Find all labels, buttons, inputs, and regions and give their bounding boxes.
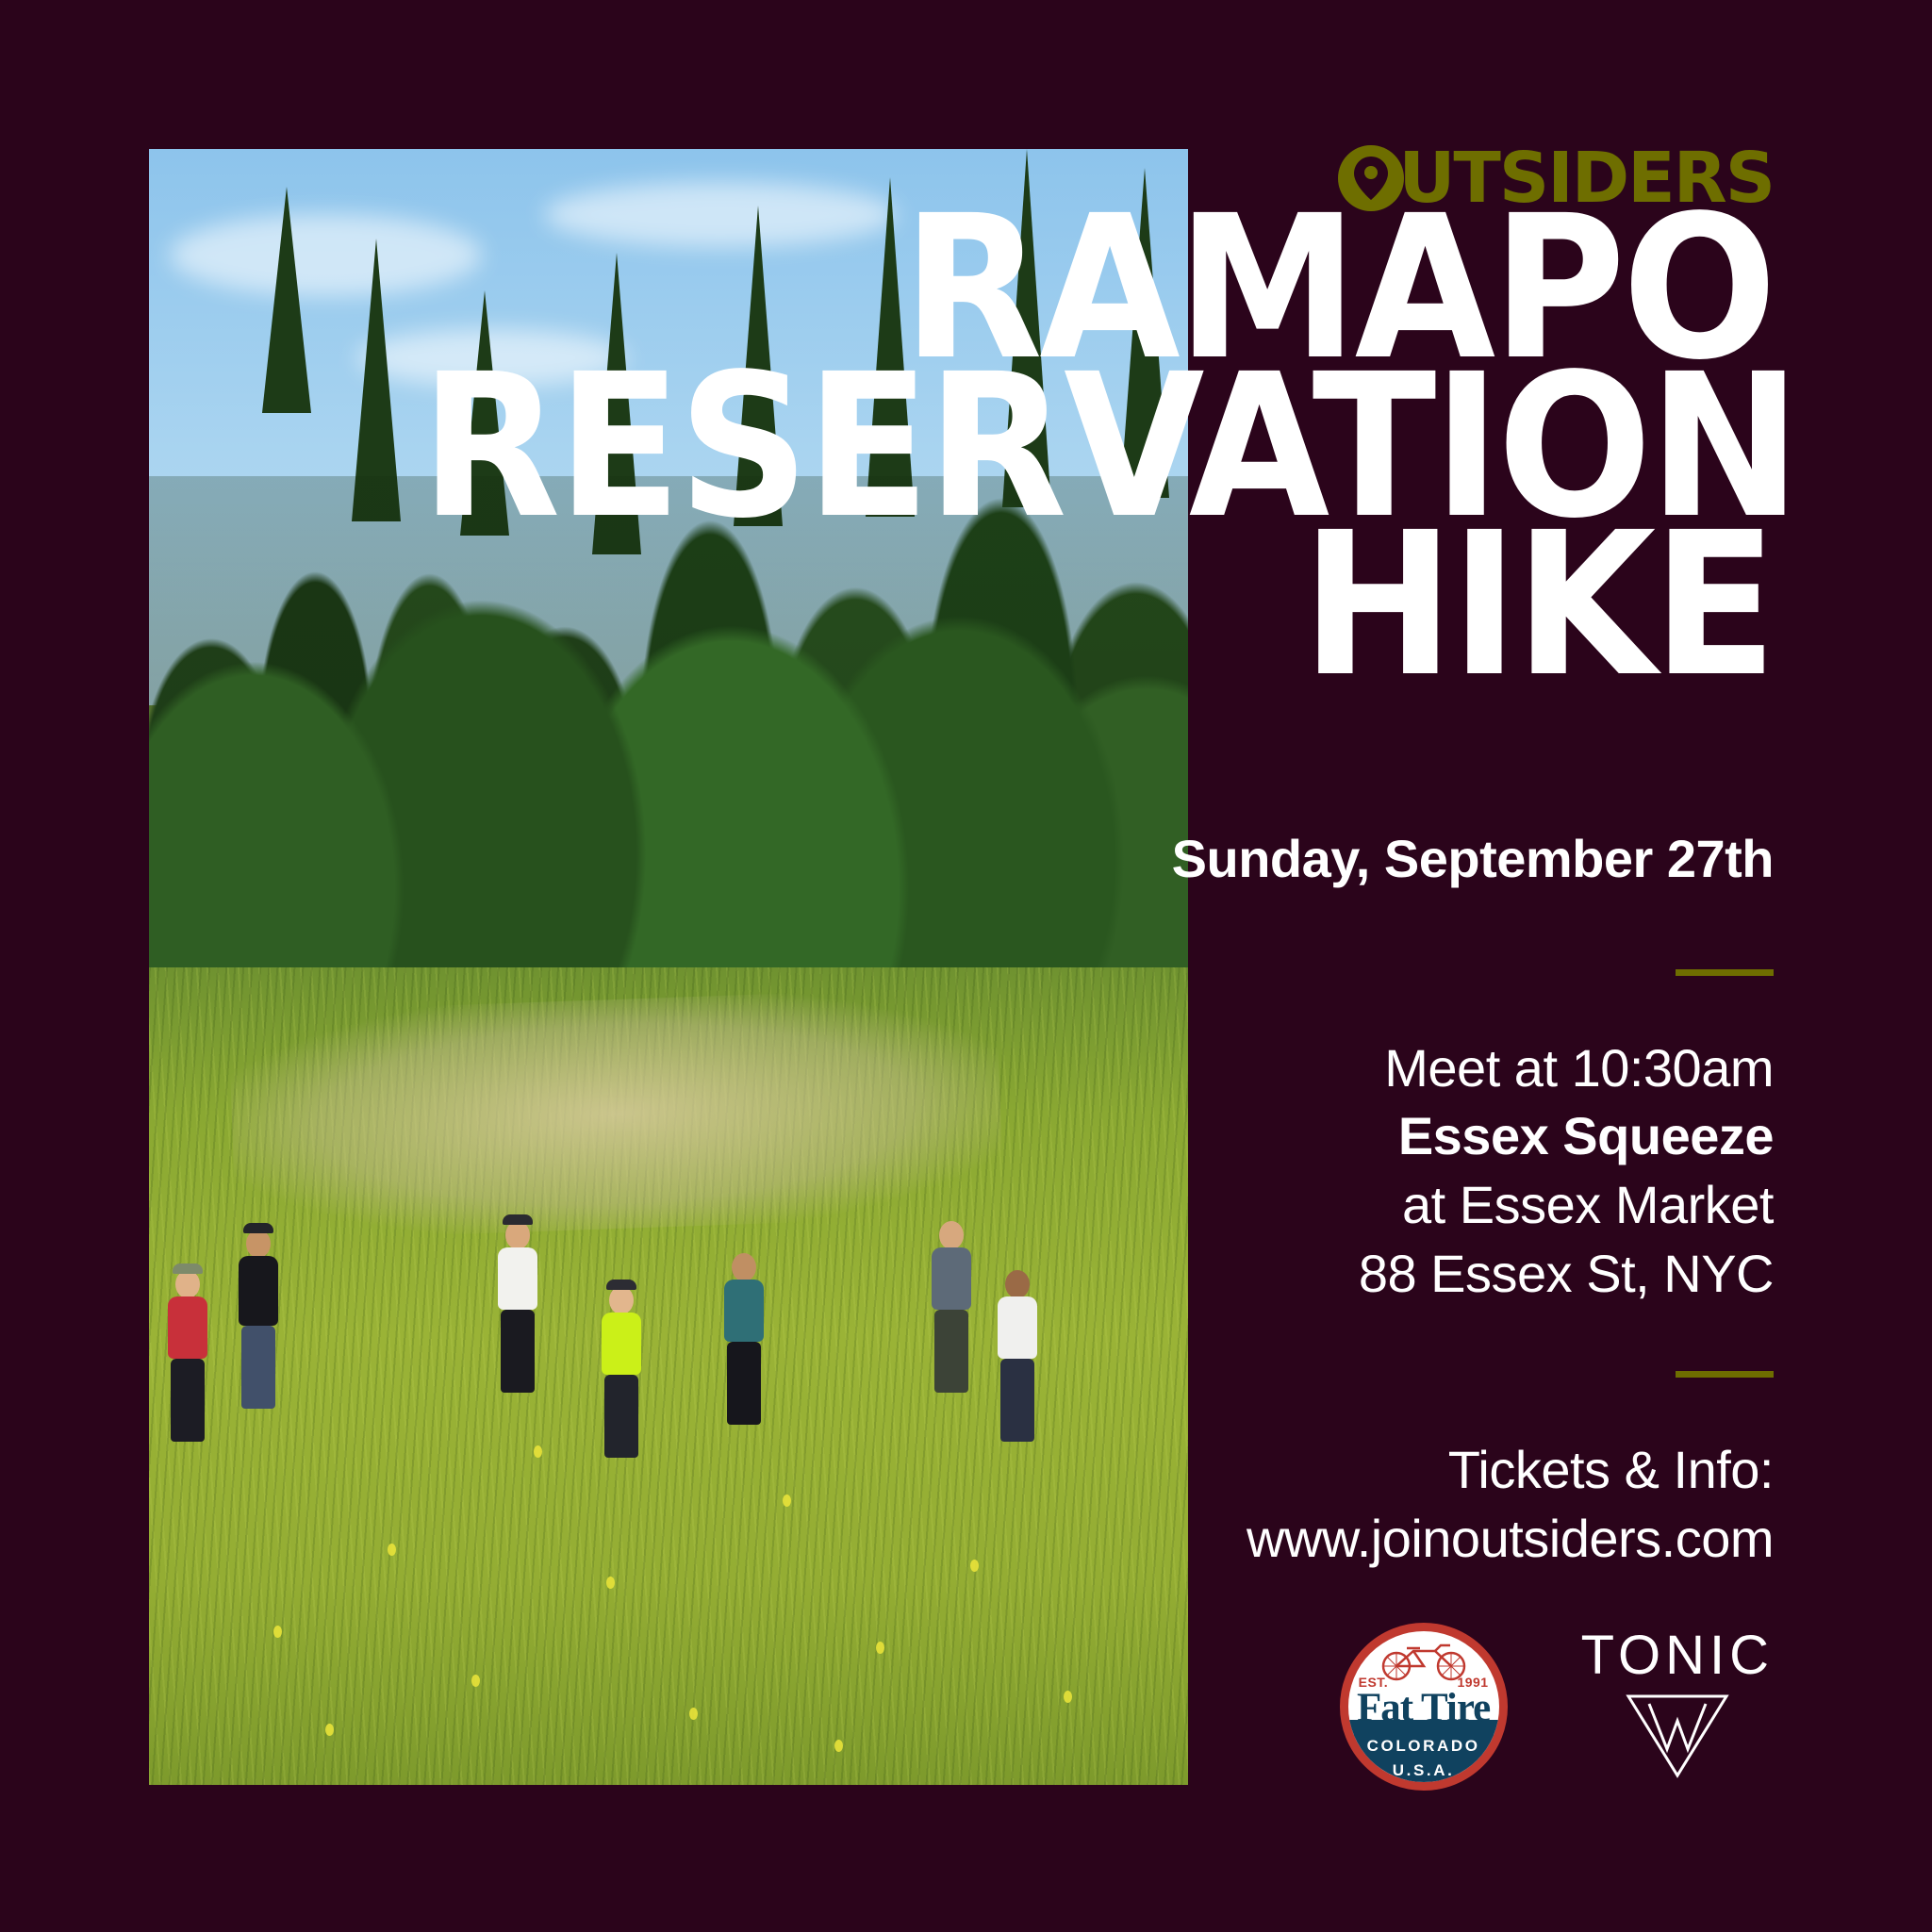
wildflower bbox=[689, 1708, 698, 1720]
wildflower bbox=[471, 1675, 480, 1687]
wildflower bbox=[606, 1577, 615, 1589]
page-title: RAMAPO RESERVATION HIKE bbox=[421, 209, 1774, 685]
fat-tire-name: Fat Tire bbox=[1348, 1688, 1499, 1728]
venue-address: 88 Essex St, NYC bbox=[906, 1240, 1774, 1309]
venue-name: Essex Squeeze bbox=[906, 1102, 1774, 1171]
fat-tire-country: U.S.A. bbox=[1348, 1761, 1499, 1780]
hiker-figure bbox=[498, 1214, 537, 1393]
fat-tire-state: COLORADO bbox=[1348, 1737, 1499, 1756]
fat-tire-logo[interactable]: EST. 1991 Fat Tire COLORADO U.S.A. bbox=[1340, 1623, 1508, 1791]
tickets-block: Tickets & Info: www.joinoutsiders.com bbox=[906, 1436, 1774, 1574]
event-date: Sunday, September 27th bbox=[906, 830, 1774, 888]
inverted-triangle-w-icon bbox=[1625, 1691, 1730, 1786]
hiker-figure bbox=[168, 1263, 207, 1442]
venue-subtitle: at Essex Market bbox=[906, 1171, 1774, 1240]
divider-top bbox=[1676, 969, 1774, 976]
tonic-logo-text: TONIC bbox=[1581, 1628, 1774, 1683]
hiker-figure bbox=[724, 1253, 764, 1425]
meet-time: Meet at 10:30am bbox=[906, 1034, 1774, 1103]
website-link[interactable]: www.joinoutsiders.com bbox=[906, 1505, 1774, 1574]
wildflower bbox=[1064, 1691, 1072, 1703]
meeting-point-block: Meet at 10:30am Essex Squeeze at Essex M… bbox=[906, 1034, 1774, 1309]
event-details: Sunday, September 27th Meet at 10:30am E… bbox=[906, 830, 1774, 1573]
wildflower bbox=[534, 1445, 542, 1458]
event-poster: UTSIDERS RAMAPO RESERVATION HIKE Sunday,… bbox=[0, 0, 1932, 1932]
tickets-label: Tickets & Info: bbox=[906, 1436, 1774, 1505]
tonic-logo[interactable]: TONIC bbox=[1581, 1628, 1774, 1786]
sponsor-logos: EST. 1991 Fat Tire COLORADO U.S.A. TONIC bbox=[1340, 1623, 1774, 1791]
dirt-trail bbox=[228, 986, 1004, 1242]
hiker-figure bbox=[239, 1223, 278, 1409]
divider-bottom bbox=[1676, 1371, 1774, 1378]
hiker-figure bbox=[602, 1280, 641, 1458]
